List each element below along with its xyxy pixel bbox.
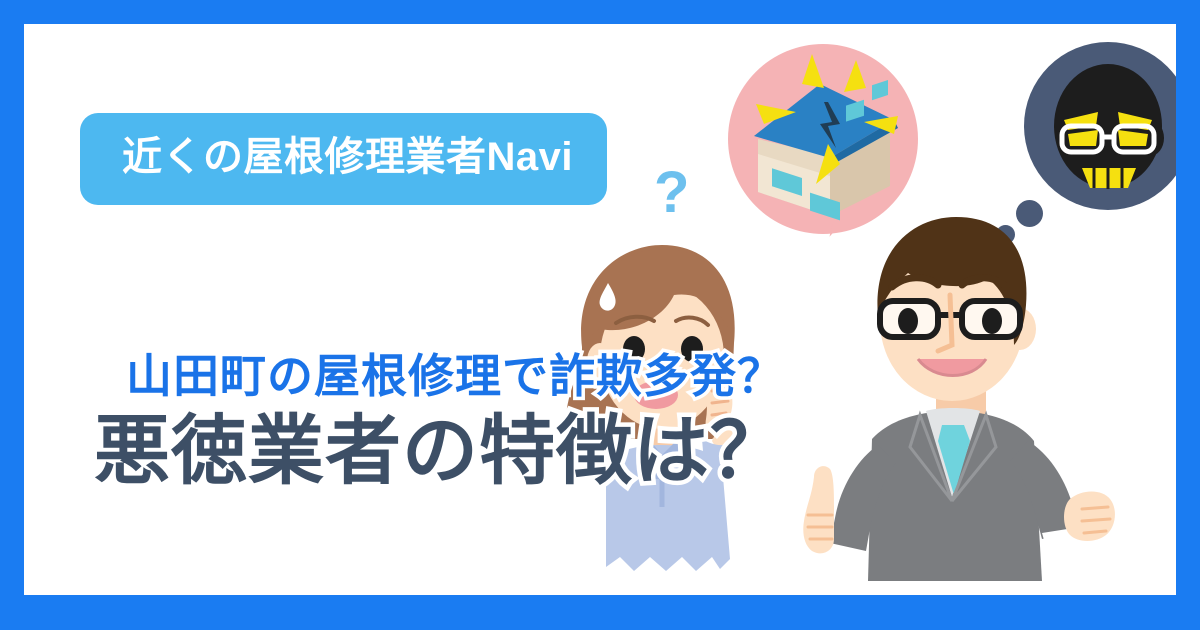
headline-line-1: 山田町の屋根修理で詐欺多発？ bbox=[74, 352, 894, 400]
question-mark-decoration: ? bbox=[654, 164, 689, 222]
damaged-house-speech-bubble bbox=[728, 44, 918, 234]
villain-thought-bubble bbox=[1024, 42, 1176, 210]
site-name-badge[interactable]: 近くの屋根修理業者Navi bbox=[80, 113, 607, 205]
villain-face-icon bbox=[1024, 42, 1176, 210]
headline-line-2: 悪徳業者の特徴は？ bbox=[74, 412, 894, 492]
house-icon bbox=[728, 44, 918, 234]
banner-canvas: 近くの屋根修理業者Navi ? 山田町の屋根修理で詐欺多発？ 悪徳業者の特徴は？ bbox=[0, 0, 1200, 630]
headline-block: 山田町の屋根修理で詐欺多発？ 悪徳業者の特徴は？ bbox=[74, 352, 894, 492]
banner-inner-plate: 近くの屋根修理業者Navi ? 山田町の屋根修理で詐欺多発？ 悪徳業者の特徴は？ bbox=[24, 24, 1176, 595]
site-name-label: 近くの屋根修理業者Navi bbox=[122, 137, 573, 177]
